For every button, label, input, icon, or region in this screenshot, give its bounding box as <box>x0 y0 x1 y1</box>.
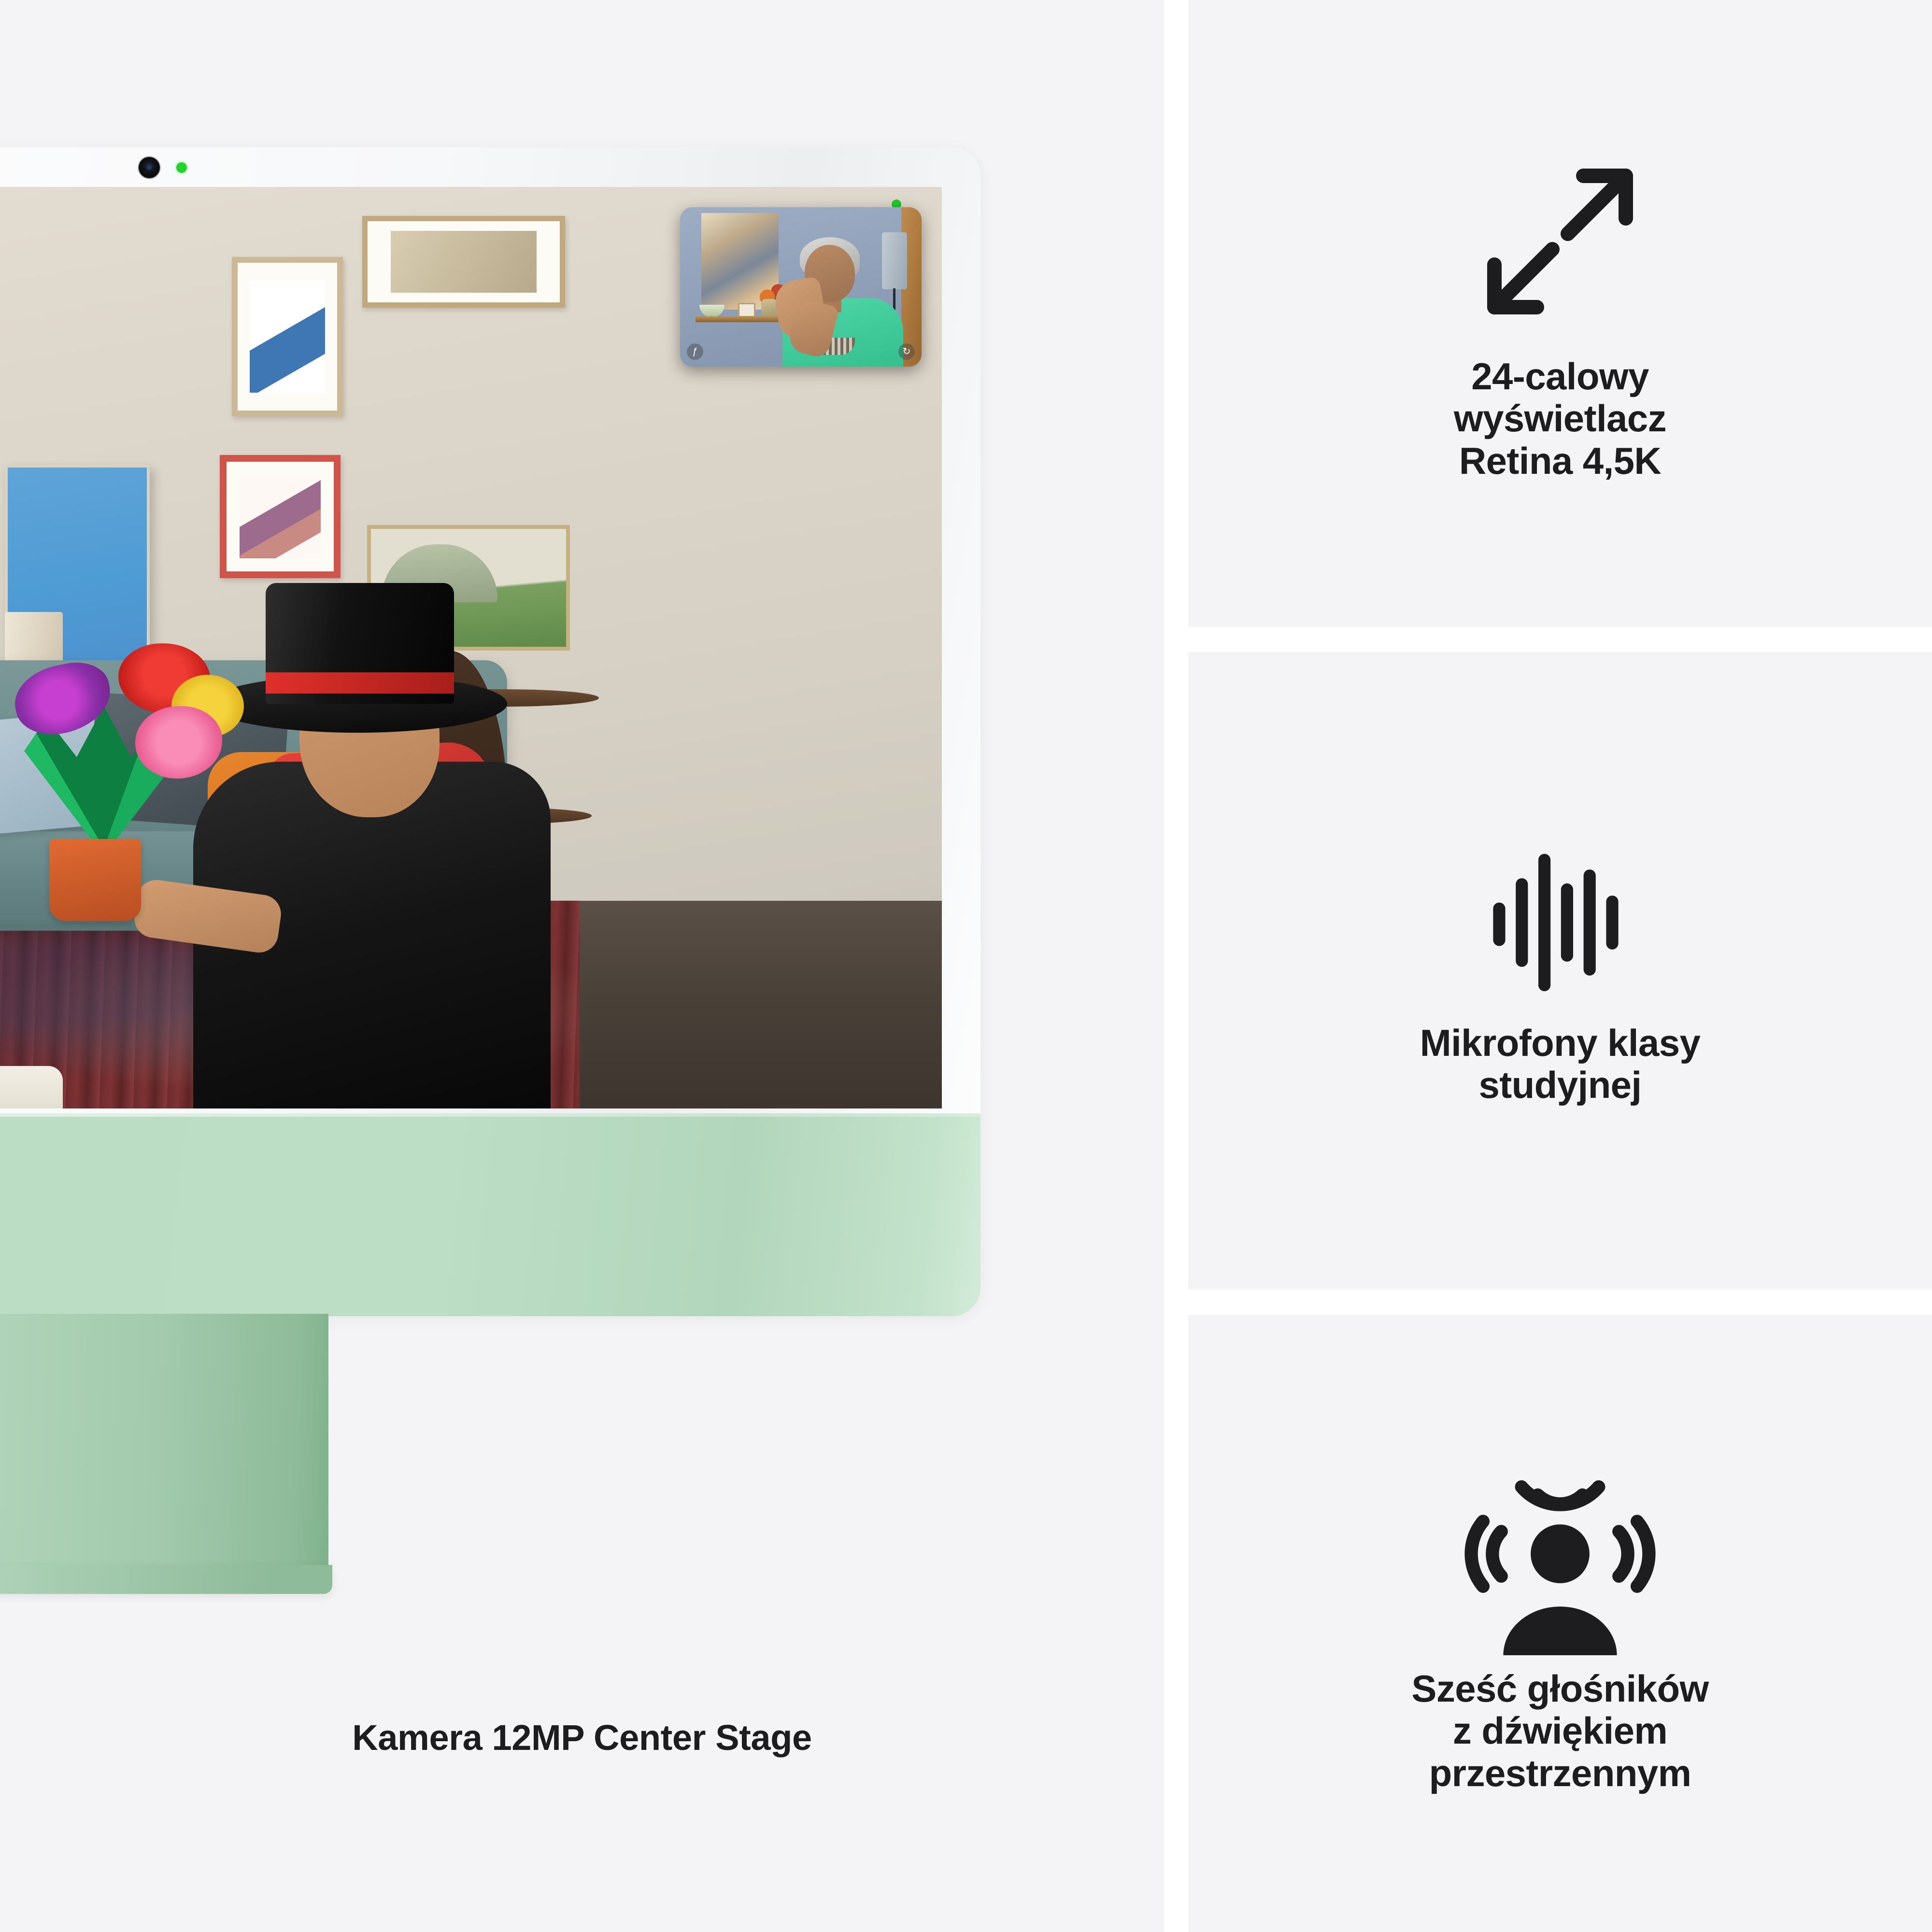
imac-display: ƒ ↻ <box>0 187 942 1108</box>
camera-lens-icon <box>139 157 160 178</box>
camera-feature-caption: Kamera 12MP Center Stage <box>0 1717 1164 1758</box>
imac-chin <box>0 1113 980 1316</box>
spatial-audio-person-icon <box>1459 1452 1662 1655</box>
feature-tile-display-label: 24-calowy wyświetlacz Retina 4,5K <box>1454 355 1666 482</box>
girl-magician <box>179 554 662 1108</box>
feature-tiles: 24-calowy wyświetlacz Retina 4,5K Mikrof… <box>1188 0 1932 1932</box>
pip-photo-frame <box>738 303 755 317</box>
feature-tile-microphones[interactable]: Mikrofony klasy studyjnej <box>1188 652 1932 1290</box>
product-feature-page: ƒ ↻ Kamera 12MP Center Stage 24- <box>0 0 1932 1932</box>
imac-stand-neck <box>0 1314 328 1575</box>
facetime-pip-window[interactable]: ƒ ↻ <box>680 207 922 367</box>
flower-pot <box>49 839 141 921</box>
imac-stand-foot <box>0 1565 332 1594</box>
feature-tile-display[interactable]: 24-calowy wyświetlacz Retina 4,5K <box>1188 0 1932 627</box>
facetime-call-scene: ƒ ↻ <box>0 187 942 1108</box>
feature-tile-speakers[interactable]: Sześć głośników z dźwiękiem przestrzenny… <box>1188 1315 1932 1932</box>
pip-flip-camera-button[interactable]: ↻ <box>898 343 915 360</box>
camera-feature-panel: ƒ ↻ Kamera 12MP Center Stage <box>0 0 1164 1932</box>
expand-diagonal-arrows-icon <box>1463 145 1657 338</box>
woman-clapping <box>0 544 82 1108</box>
audio-waveform-icon <box>1473 836 1647 1009</box>
imac-device: ƒ ↻ <box>0 147 980 1316</box>
framed-art-top <box>232 257 343 416</box>
feature-tile-microphones-label: Mikrofony klasy studyjnej <box>1420 1022 1701 1107</box>
pip-filter-button[interactable]: ƒ <box>687 343 703 360</box>
camera-status-led <box>176 162 187 173</box>
pip-lamp-shade <box>882 232 907 289</box>
framed-art-map <box>362 216 565 308</box>
feature-tile-speakers-label: Sześć głośników z dźwiękiem przestrzenny… <box>1411 1668 1708 1794</box>
